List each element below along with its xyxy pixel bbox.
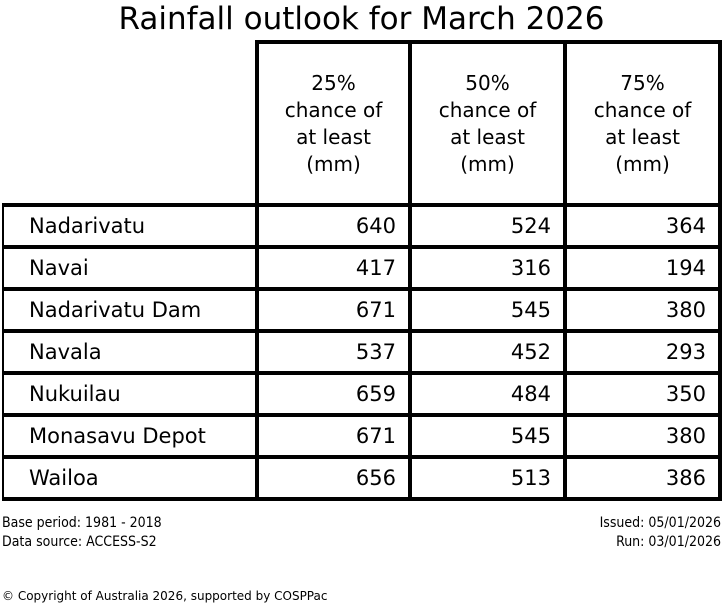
table-row: Nadarivatu Dam 671 545 380 (3, 289, 720, 331)
footer-right-block: Issued: 05/01/2026 Run: 03/01/2026 (600, 514, 721, 552)
header-cell-p75: 75% chance of at least (mm) (565, 42, 720, 205)
cell-p50: 545 (410, 289, 565, 331)
cell-p75: 293 (565, 331, 720, 373)
footer-base-period: Base period: 1981 - 2018 (2, 514, 162, 533)
table-row: Nadarivatu 640 524 364 (3, 205, 720, 247)
outlook-table-container: 25% chance of at least (mm) 50% chance o… (2, 40, 719, 501)
cell-p25: 537 (257, 331, 410, 373)
cell-p25: 671 (257, 289, 410, 331)
header-p75-line-1: 75% (573, 70, 712, 97)
cell-p25: 656 (257, 457, 410, 499)
cell-p25: 671 (257, 415, 410, 457)
cell-location: Navai (3, 247, 257, 289)
table-row: Wailoa 656 513 386 (3, 457, 720, 499)
header-p75-line-2: chance of (573, 97, 712, 124)
header-p50-line-4: (mm) (418, 151, 557, 178)
cell-p50: 545 (410, 415, 565, 457)
header-p50-line-1: 50% (418, 70, 557, 97)
cell-p75: 364 (565, 205, 720, 247)
cell-p75: 350 (565, 373, 720, 415)
page-title: Rainfall outlook for March 2026 (0, 0, 723, 38)
table-row: Navai 417 316 194 (3, 247, 720, 289)
cell-p25: 417 (257, 247, 410, 289)
footer-issued-date: Issued: 05/01/2026 (600, 514, 721, 533)
cell-p75: 380 (565, 415, 720, 457)
header-p25-line-4: (mm) (265, 151, 402, 178)
cell-location: Nadarivatu Dam (3, 289, 257, 331)
cell-location: Navala (3, 331, 257, 373)
header-label-column-blank (3, 42, 257, 205)
table-header: 25% chance of at least (mm) 50% chance o… (3, 42, 720, 205)
cell-p50: 524 (410, 205, 565, 247)
table-body: Nadarivatu 640 524 364 Navai 417 316 194… (3, 205, 720, 499)
header-cell-p50: 50% chance of at least (mm) (410, 42, 565, 205)
cell-location: Wailoa (3, 457, 257, 499)
header-p50-line-3: at least (418, 124, 557, 151)
cell-p75: 386 (565, 457, 720, 499)
header-p75-line-4: (mm) (573, 151, 712, 178)
footer-run-date: Run: 03/01/2026 (600, 533, 721, 552)
table-row: Nukuilau 659 484 350 (3, 373, 720, 415)
footer: Base period: 1981 - 2018 Data source: AC… (2, 514, 721, 556)
cell-p50: 484 (410, 373, 565, 415)
cell-p50: 452 (410, 331, 565, 373)
cell-p25: 659 (257, 373, 410, 415)
header-p25-line-3: at least (265, 124, 402, 151)
cell-p75: 380 (565, 289, 720, 331)
table-header-row: 25% chance of at least (mm) 50% chance o… (3, 42, 720, 205)
cell-p25: 640 (257, 205, 410, 247)
header-cell-p25: 25% chance of at least (mm) (257, 42, 410, 205)
footer-data-source: Data source: ACCESS-S2 (2, 533, 162, 552)
copyright-notice: © Copyright of Australia 2026, supported… (2, 588, 327, 604)
cell-p50: 513 (410, 457, 565, 499)
footer-left-block: Base period: 1981 - 2018 Data source: AC… (2, 514, 162, 552)
header-p50-line-2: chance of (418, 97, 557, 124)
cell-p75: 194 (565, 247, 720, 289)
header-p25-line-1: 25% (265, 70, 402, 97)
cell-p50: 316 (410, 247, 565, 289)
header-p75-line-3: at least (573, 124, 712, 151)
cell-location: Nadarivatu (3, 205, 257, 247)
cell-location: Nukuilau (3, 373, 257, 415)
rainfall-outlook-table: 25% chance of at least (mm) 50% chance o… (2, 40, 722, 501)
header-p25-line-2: chance of (265, 97, 402, 124)
table-row: Monasavu Depot 671 545 380 (3, 415, 720, 457)
table-row: Navala 537 452 293 (3, 331, 720, 373)
cell-location: Monasavu Depot (3, 415, 257, 457)
